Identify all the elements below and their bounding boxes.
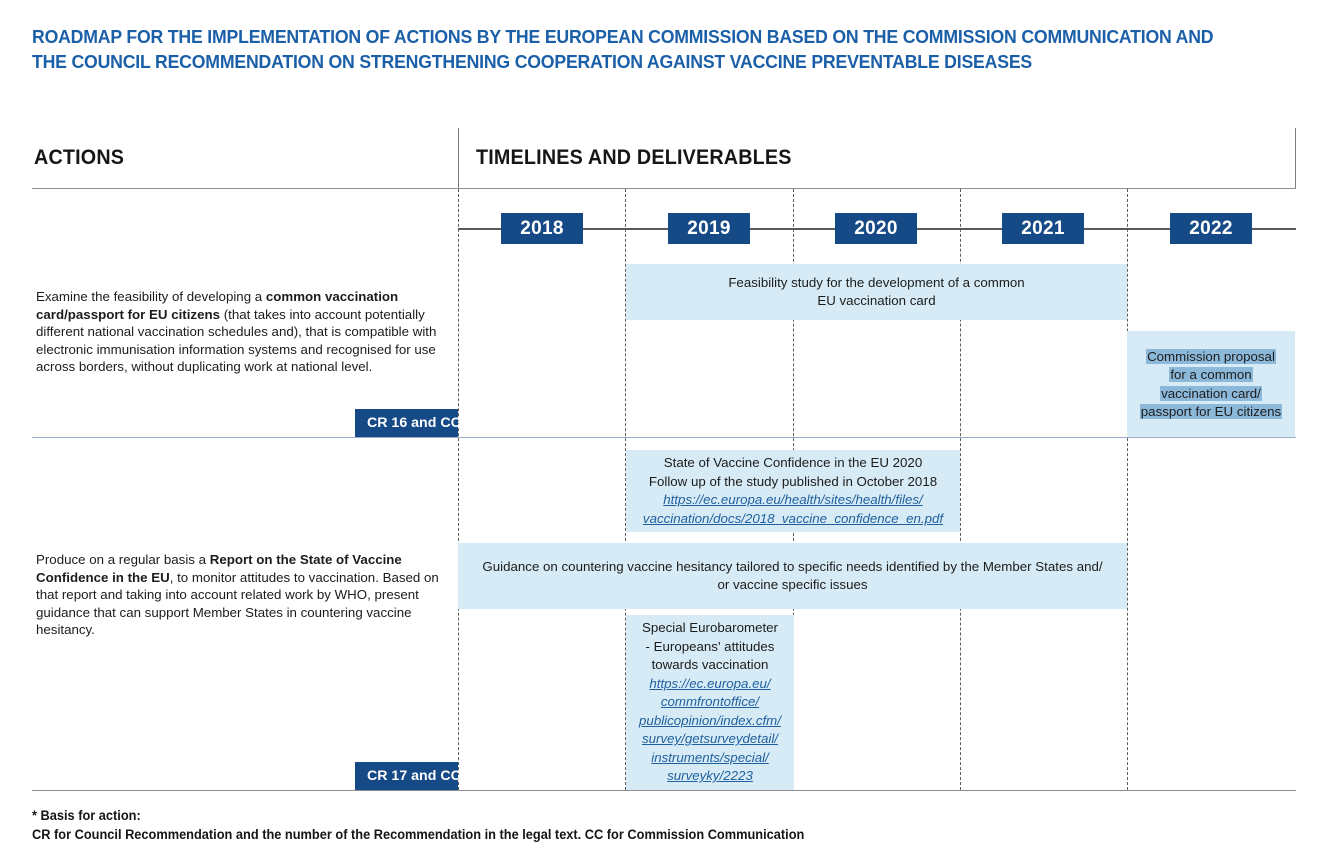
deliverable-special-eurobarometer: Special Eurobarometer - Europeans' attit…: [626, 615, 794, 790]
actions-column-header: ACTIONS: [34, 146, 124, 170]
eurobarometer-link-line-1[interactable]: https://ec.europa.eu/: [639, 675, 781, 694]
eurobarometer-line-1: Special Eurobarometer: [642, 620, 778, 635]
eurobarometer-link-line-3[interactable]: publicopinion/index.cfm/: [639, 712, 781, 731]
column-guide-2022-start: [1127, 189, 1128, 790]
year-badge-2020: 2020: [835, 213, 917, 244]
feasibility-line-2: EU vaccination card: [817, 293, 935, 308]
guidance-line-2: or vaccine specific issues: [717, 577, 867, 592]
eurobarometer-link-line-4[interactable]: survey/getsurveydetail/: [639, 730, 781, 749]
confidence-line-1: State of Vaccine Confidence in the EU 20…: [664, 455, 922, 470]
action-description-2: Produce on a regular basis a Report on t…: [36, 551, 456, 639]
timelines-column-header: TIMELINES AND DELIVERABLES: [476, 146, 792, 170]
proposal-line-2: for a common: [1169, 367, 1252, 382]
row-divider: [32, 437, 1296, 438]
year-badge-2018: 2018: [501, 213, 583, 244]
footnote-basis-text: CR for Council Recommendation and the nu…: [32, 825, 804, 844]
footnote-basis-label: * Basis for action:: [32, 806, 141, 825]
proposal-line-1: Commission proposal: [1146, 349, 1276, 364]
year-badge-2019: 2019: [668, 213, 750, 244]
eurobarometer-link-line-6[interactable]: surveyky/2223: [639, 767, 781, 786]
guidance-line-1: Guidance on countering vaccine hesitancy…: [482, 559, 1102, 574]
header-divider-right: [1295, 128, 1296, 189]
column-guide-2018-start: [458, 189, 459, 790]
diagram-bottom-rule: [32, 790, 1296, 791]
eurobarometer-line-3: towards vaccination: [652, 657, 769, 672]
proposal-line-3: vaccination card/: [1160, 386, 1262, 401]
action-description-1: Examine the feasibility of developing a …: [36, 288, 456, 376]
roadmap-diagram: ACTIONS TIMELINES AND DELIVERABLES 2018 …: [0, 0, 1335, 857]
confidence-line-2: Follow up of the study published in Octo…: [649, 474, 937, 489]
deliverable-guidance-vaccine-hesitancy: Guidance on countering vaccine hesitancy…: [458, 543, 1127, 609]
header-bottom-rule: [32, 188, 1296, 189]
confidence-link-line-1[interactable]: https://ec.europa.eu/health/sites/health…: [643, 491, 943, 510]
year-badge-2022: 2022: [1170, 213, 1252, 244]
confidence-link-line-2[interactable]: vaccination/docs/2018_vaccine_confidence…: [643, 510, 943, 529]
eurobarometer-link-line-5[interactable]: instruments/special/: [639, 749, 781, 768]
header-divider-left: [458, 128, 459, 189]
deliverable-commission-proposal: Commission proposal for a common vaccina…: [1127, 331, 1295, 438]
year-badge-2021: 2021: [1002, 213, 1084, 244]
proposal-line-4: passport for EU citizens: [1140, 404, 1282, 419]
basis-badge-cr17: CR 17 and CC: [355, 762, 458, 790]
deliverable-feasibility-study: Feasibility study for the development of…: [626, 264, 1127, 320]
eurobarometer-link-line-2[interactable]: commfrontoffice/: [639, 693, 781, 712]
feasibility-line-1: Feasibility study for the development of…: [728, 275, 1024, 290]
action-2-lead: Produce on a regular basis a: [36, 552, 210, 567]
eurobarometer-line-2: - Europeans' attitudes: [646, 639, 775, 654]
deliverable-state-of-vaccine-confidence: State of Vaccine Confidence in the EU 20…: [626, 450, 960, 532]
action-1-lead: Examine the feasibility of developing a: [36, 289, 266, 304]
basis-badge-cr16: CR 16 and CC*: [355, 409, 458, 437]
